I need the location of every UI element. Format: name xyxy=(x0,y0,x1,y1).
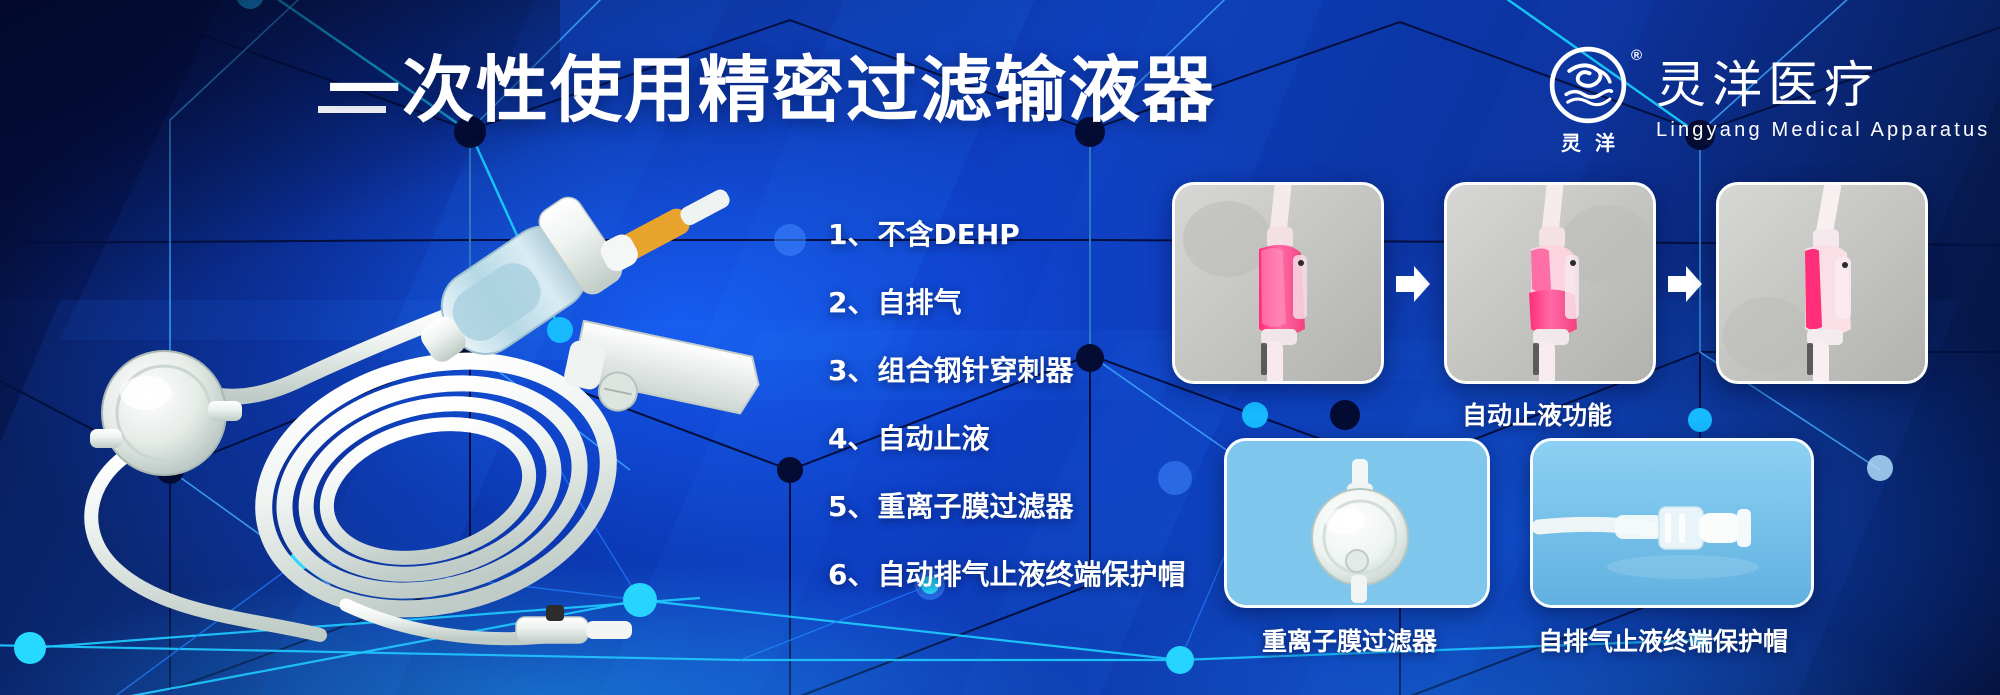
lingyang-logo-icon xyxy=(1549,46,1627,124)
feature-index-4: 4、 xyxy=(828,422,875,455)
brand-seal-label: 灵洋 xyxy=(1540,127,1636,156)
infusion-set-illustration xyxy=(46,185,806,655)
registered-trademark-icon: ® xyxy=(1631,48,1642,63)
brand-seal-block: ® 灵洋 xyxy=(1540,46,1636,156)
banner-header: 一次性使用精密过滤输液器 ® 灵洋 灵洋医疗 Lingyang Me xyxy=(0,0,2000,165)
feature-item-4: 4、自动止液 xyxy=(828,422,1258,456)
auto-stop-caption: 自动止液功能 xyxy=(1462,396,1612,432)
sequence-arrow-2 xyxy=(1664,262,1704,306)
feature-label-1: 不含DEHP xyxy=(877,218,1019,251)
steel-needle-cap xyxy=(597,185,736,275)
product-panel-filter xyxy=(1224,438,1490,608)
right-arrow-icon xyxy=(1664,262,1704,306)
brand-name-en: Lingyang Medical Apparatus xyxy=(1656,117,1990,143)
luer-tip-part xyxy=(586,621,632,639)
hero-product-photo xyxy=(46,185,806,655)
feature-label-6: 自动排气止液终端保护帽 xyxy=(877,558,1185,591)
product-panel-cap xyxy=(1530,438,1814,608)
brand-lockup: ® 灵洋 灵洋医疗 Lingyang Medical Apparatus xyxy=(1540,46,1990,156)
brand-seal xyxy=(1549,46,1627,124)
feature-index-5: 5、 xyxy=(828,490,875,523)
precision-filter-part xyxy=(90,351,242,475)
flow-regulator-part xyxy=(516,605,588,643)
sequence-arrow-1 xyxy=(1392,262,1432,306)
promo-banner: 一次性使用精密过滤输液器 ® 灵洋 灵洋医疗 Lingyang Me xyxy=(0,0,2000,695)
brand-name-block: 灵洋医疗 Lingyang Medical Apparatus xyxy=(1656,57,1990,145)
auto-stop-step-2 xyxy=(1444,182,1656,384)
auto-stop-step-1 xyxy=(1172,182,1384,384)
protective-cap-photo xyxy=(1533,441,1814,608)
feature-label-2: 自排气 xyxy=(877,286,961,319)
auto-stop-photo-1 xyxy=(1175,185,1384,384)
feature-index-2: 2、 xyxy=(828,286,875,319)
right-arrow-icon xyxy=(1392,262,1432,306)
feature-index-1: 1、 xyxy=(828,218,875,251)
auto-stop-photo-3 xyxy=(1719,185,1928,384)
feature-label-3: 组合钢针穿刺器 xyxy=(877,354,1073,387)
feature-index-3: 3、 xyxy=(828,354,875,387)
feature-label-5: 重离子膜过滤器 xyxy=(877,490,1073,523)
ion-membrane-filter-photo xyxy=(1227,441,1490,608)
page-title: 一次性使用精密过滤输液器 xyxy=(328,52,1216,128)
feature-index-6: 6、 xyxy=(828,558,875,591)
auto-stop-step-3 xyxy=(1716,182,1928,384)
product-caption-cap: 自排气止液终端保护帽 xyxy=(1538,622,1788,658)
feature-item-5: 5、重离子膜过滤器 xyxy=(828,490,1258,524)
feature-item-6: 6、自动排气止液终端保护帽 xyxy=(828,558,1258,592)
feature-label-4: 自动止液 xyxy=(877,422,989,455)
product-caption-filter: 重离子膜过滤器 xyxy=(1262,622,1437,658)
brand-name-cn: 灵洋医疗 xyxy=(1656,57,1990,113)
auto-stop-photo-2 xyxy=(1447,185,1656,384)
